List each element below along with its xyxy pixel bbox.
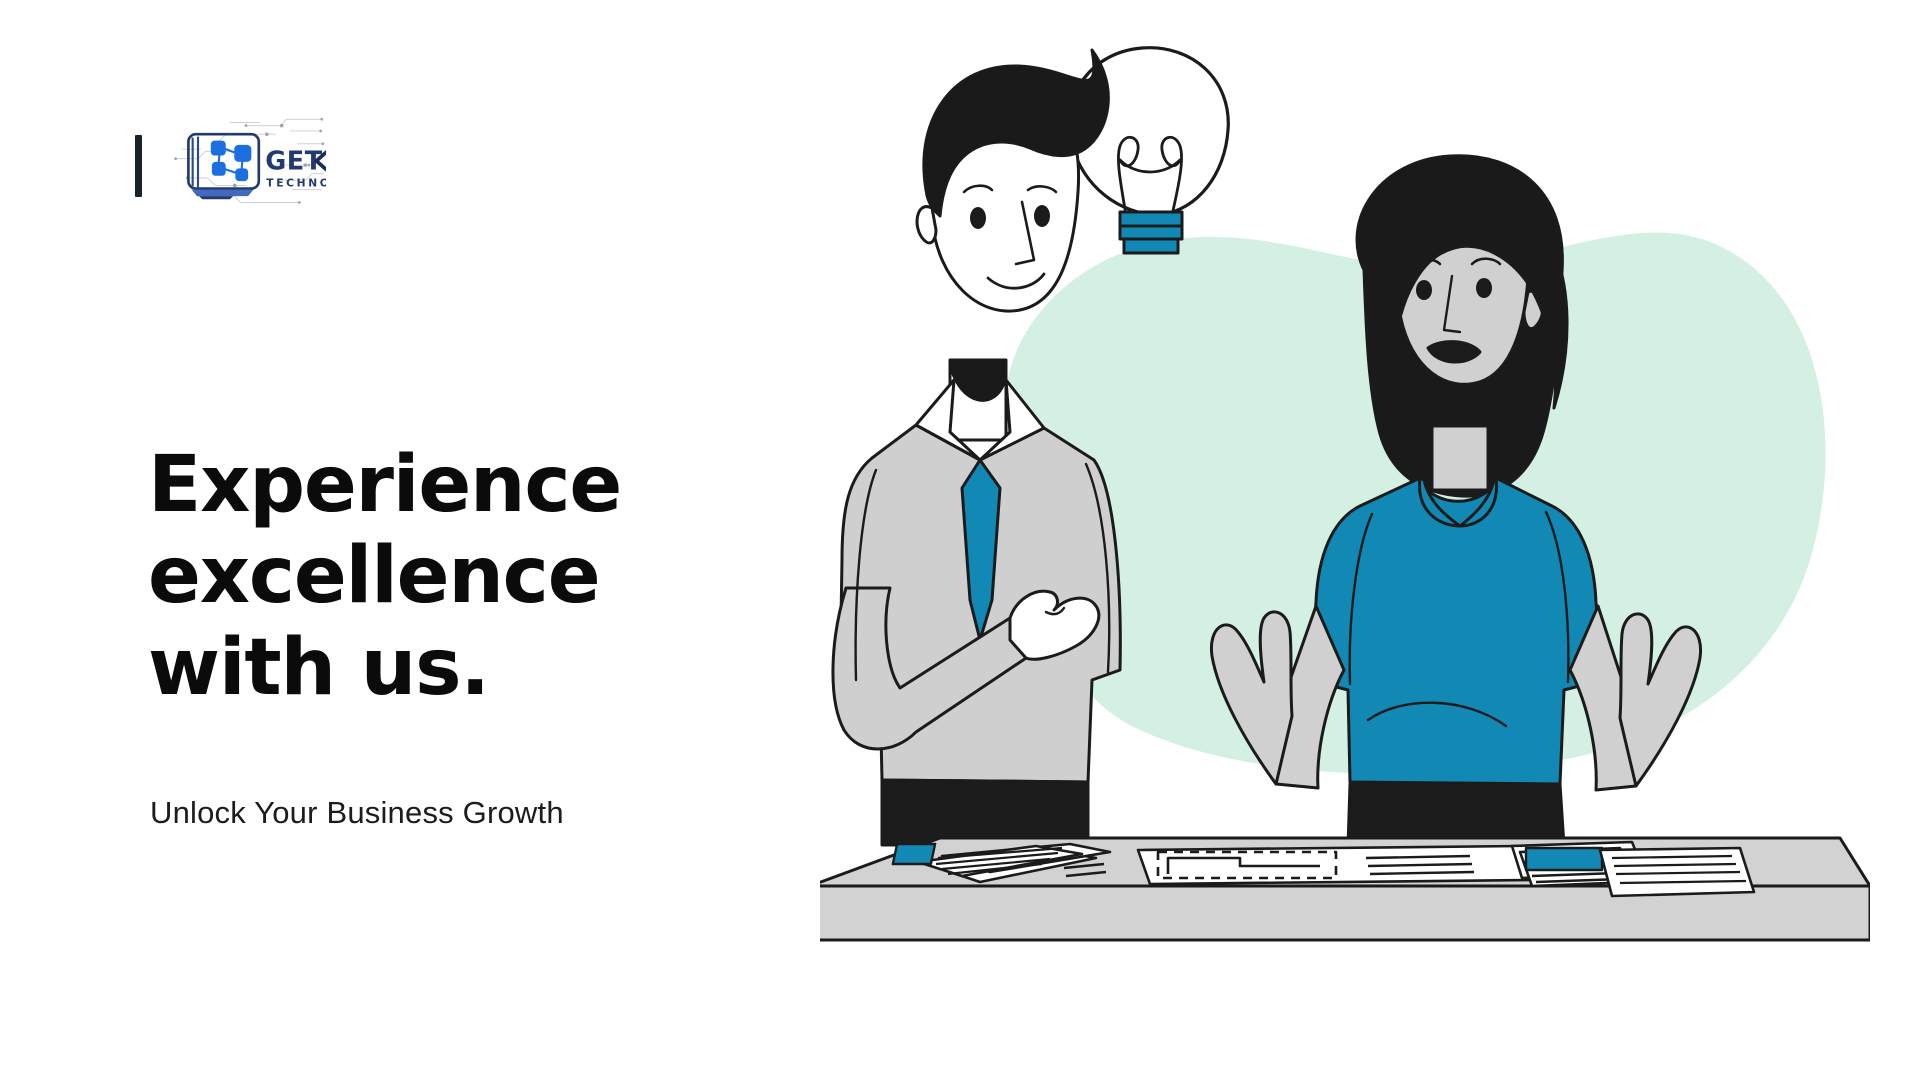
hero-illustration (820, 40, 1870, 1040)
hero-headline: Experience excellence with us. (148, 440, 788, 714)
businessman-figure (833, 50, 1120, 845)
desk-document-center (1138, 846, 1532, 884)
headline-line-1: Experience (148, 440, 788, 531)
woman-neck (1432, 426, 1488, 490)
woman-eye-right (1476, 278, 1492, 298)
man-ear (917, 207, 936, 243)
svg-text:TECHNO: TECHNO (266, 176, 326, 189)
man-eye-right (1034, 205, 1050, 227)
headline-line-2: excellence (148, 531, 788, 622)
woman-eye-left (1416, 280, 1432, 300)
logo-accent-bar (135, 135, 142, 197)
brand-logo[interactable]: GET TECHNO (135, 128, 326, 204)
headline-line-3: with us. (148, 623, 788, 714)
svg-text:GET: GET (265, 146, 323, 176)
document-highlight-right (1526, 848, 1602, 870)
document-highlight-left (893, 844, 935, 864)
slide-canvas: GET TECHNO Experience excellence with us… (0, 0, 1920, 1080)
hero-subheadline: Unlock Your Business Growth (150, 795, 564, 831)
man-trousers (882, 780, 1088, 845)
light-bulb-base (1120, 212, 1182, 253)
man-eye-left (970, 207, 986, 229)
getkin-technology-logo-icon: GET TECHNO (166, 108, 326, 218)
